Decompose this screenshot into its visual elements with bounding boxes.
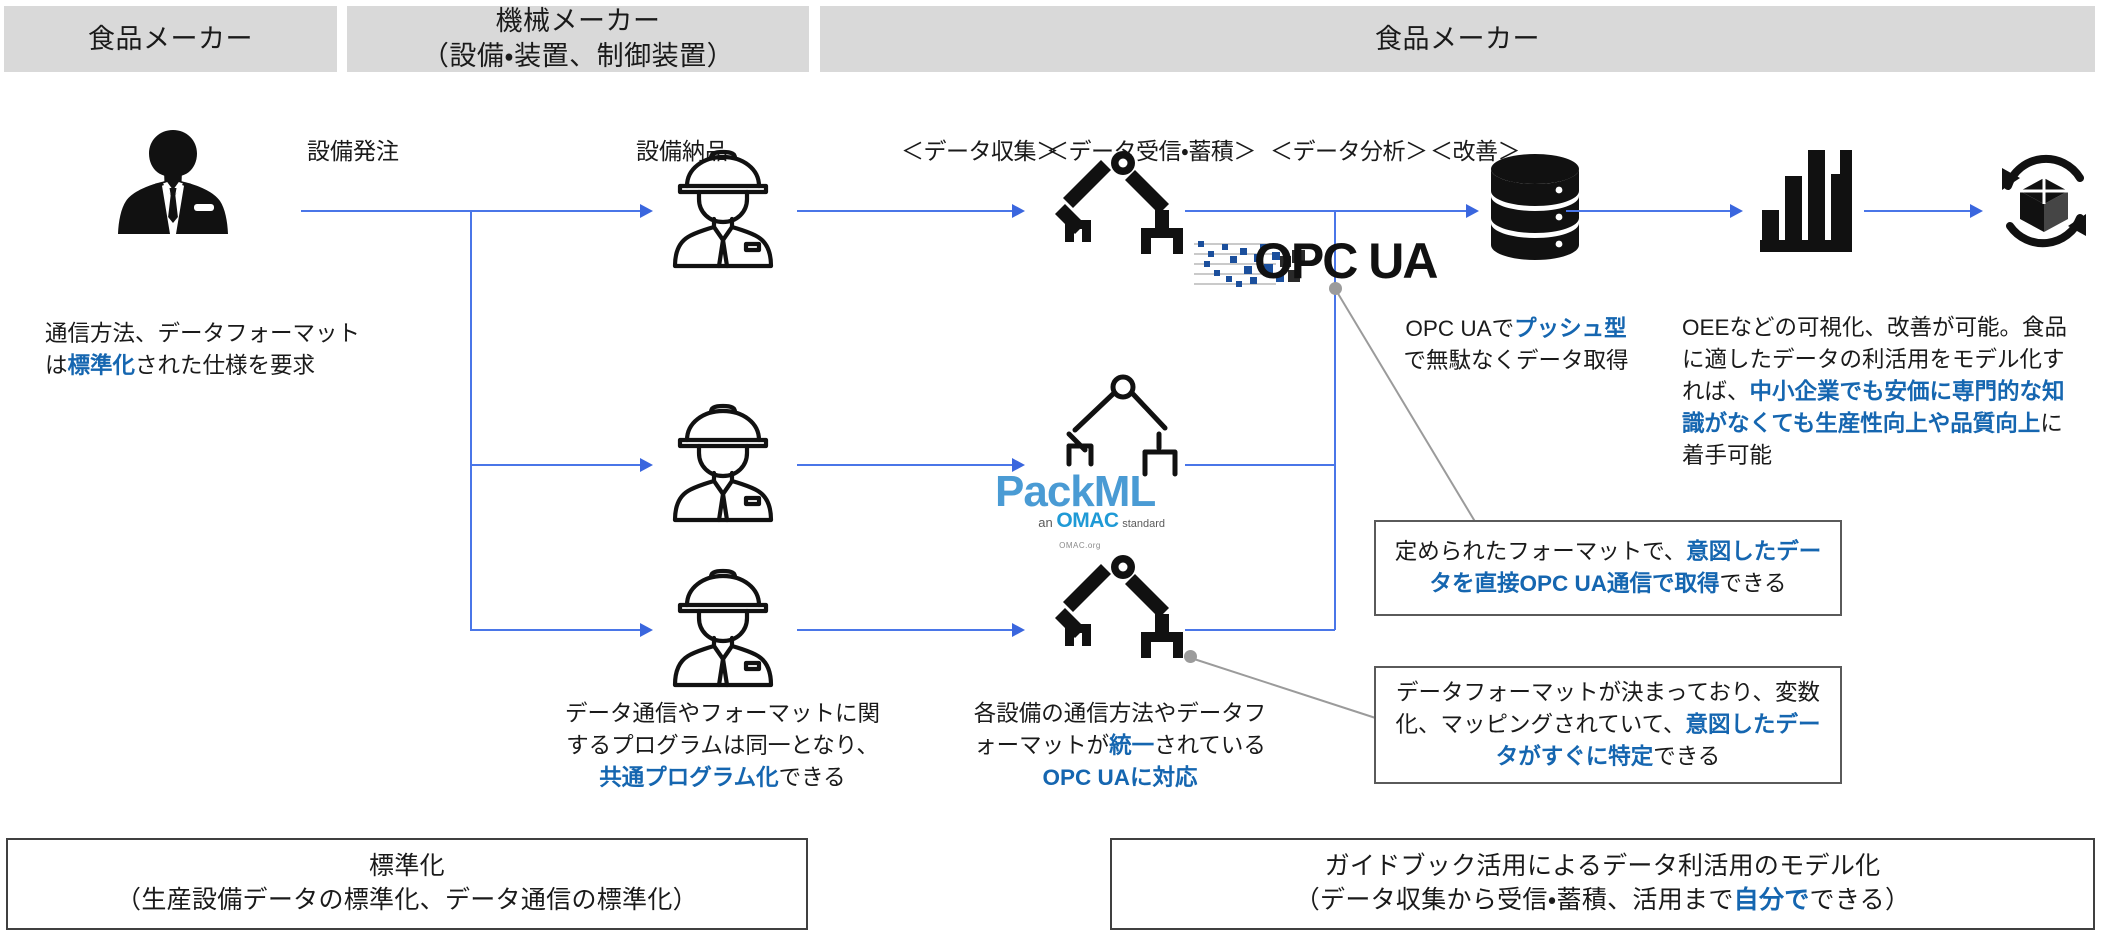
engineer-helmet-icon xyxy=(662,402,784,524)
analysis-caption: OEEなどの可視化、改善が可能。食品に適したデータの利活用をモデル化すれば、中小… xyxy=(1682,312,2084,472)
arrowhead-engineer-1 xyxy=(640,204,653,218)
person-suit-icon xyxy=(110,122,236,242)
footer-2-line-2-highlight: 自分で xyxy=(1734,886,1810,914)
engineer-caption: データ通信やフォーマットに関するプログラムは同一となり、共通プログラム化できる xyxy=(555,698,890,794)
connector-trunk-to-engineer-1 xyxy=(470,210,640,212)
connector-robot3-to-bus xyxy=(1185,629,1335,631)
footer-1-line-1: 標準化 xyxy=(116,850,698,884)
packml-an-text: an xyxy=(1038,515,1052,530)
arrowhead-engineer-2 xyxy=(640,458,653,472)
database-caption-post: で無駄なくデータ取得 xyxy=(1403,348,1628,373)
arrowhead-robot-1 xyxy=(1012,204,1025,218)
left-caption-highlight: 標準化 xyxy=(68,353,136,378)
header-food-maker-left: 食品メーカー xyxy=(4,6,337,72)
connector-database-to-chart xyxy=(1566,210,1730,212)
opcua-logo-text: OPC UA xyxy=(1254,236,1436,286)
footer-2-line-2-post: できる） xyxy=(1810,886,1911,914)
connector-robot2-to-bus xyxy=(1185,464,1335,466)
arrowhead-robot-3 xyxy=(1012,623,1025,637)
header-line: （設備・装置、制御装置） xyxy=(422,39,734,74)
engineer-caption-post: できる xyxy=(779,765,846,790)
packml-url-text: OMAC.org xyxy=(995,541,1165,550)
arrowhead-engineer-3 xyxy=(640,623,653,637)
engineer-helmet-icon xyxy=(662,567,784,689)
connector-engineer3-to-robot3 xyxy=(797,629,1012,631)
footer-2-line-1: ガイドブック活用によるデータ利活用のモデル化 xyxy=(1295,850,1911,884)
robot-caption-mid: されている xyxy=(1154,733,1266,758)
arrowhead-improve xyxy=(1970,204,1983,218)
robot-caption-highlight-1: 統一 xyxy=(1109,733,1154,758)
callout-2-post: できる xyxy=(1653,744,1720,769)
connector-trunk-to-engineer-3 xyxy=(470,629,640,631)
engineer-caption-highlight: 共通プログラム化 xyxy=(599,765,778,790)
recycle-box-icon xyxy=(1990,148,2098,256)
connector-engineer1-to-robot1 xyxy=(797,210,1012,212)
footer-2-line-2: （データ収集から受信・蓄積、活用まで自分でできる） xyxy=(1295,884,1911,918)
left-caption-post: された仕様を要求 xyxy=(135,353,315,378)
flow-label-order: 設備発注 xyxy=(307,132,399,166)
robot-caption: 各設備の通信方法やデータフォーマットが統一されているOPC UAに対応 xyxy=(965,698,1275,794)
bar-chart-icon xyxy=(1758,148,1858,256)
robot-caption-highlight-2: OPC UAに対応 xyxy=(1042,765,1197,790)
connector-robot1-to-bus xyxy=(1185,210,1335,212)
engineer-helmet-icon xyxy=(662,148,784,270)
arrowhead-database xyxy=(1466,204,1479,218)
callout-box-2: データフォーマットが決まっており、変数化、マッピングされていて、意図したデータが… xyxy=(1374,666,1842,784)
callout-box-1: 定められたフォーマットで、意図したデータを直接OPC UA通信で取得できる xyxy=(1374,520,1842,616)
header-line: 食品メーカー xyxy=(1375,22,1540,57)
header-line: 食品メーカー xyxy=(88,22,253,57)
header-machine-maker: 機械メーカー （設備・装置、制御装置） xyxy=(347,6,809,72)
database-caption-pre: OPC UAで xyxy=(1405,316,1514,341)
database-caption-highlight: プッシュ型 xyxy=(1514,316,1627,341)
packml-logo-text: PackML xyxy=(995,470,1165,514)
engineer-caption-pre: データ通信やフォーマットに関するプログラムは同一となり、 xyxy=(565,701,880,758)
callout-1-post: できる xyxy=(1719,571,1786,596)
footer-1-line-2-pre: （生産設備データの標準化、データ通信の標準化） xyxy=(116,886,698,914)
stage-label-data-collection: ＜データ収集＞ xyxy=(901,132,1059,166)
footer-box-guidebook: ガイドブック活用によるデータ利活用のモデル化 （データ収集から受信・蓄積、活用ま… xyxy=(1110,838,2095,930)
robot-arm-icon xyxy=(1055,552,1185,667)
connector-trunk-vertical xyxy=(470,210,472,630)
omac-logo-text: OMAC xyxy=(1056,509,1118,532)
footer-box-standardization: 標準化 （生産設備データの標準化、データ通信の標準化） xyxy=(6,838,808,930)
connector-trunk-to-engineer-2 xyxy=(470,464,640,466)
connector-bus-to-database xyxy=(1334,210,1466,212)
opcua-logo: OPC UA xyxy=(1192,228,1452,300)
connector-engineer2-to-robot2 xyxy=(797,464,1012,466)
packml-standard-text: standard xyxy=(1122,518,1165,530)
packml-logo: PackML an OMAC standard OMAC.org xyxy=(995,470,1165,550)
left-caption: 通信方法、データフォーマットは標準化された仕様を要求 xyxy=(45,318,360,382)
header-food-maker-right: 食品メーカー xyxy=(820,6,2095,72)
arrowhead-chart xyxy=(1730,204,1743,218)
callout-1-pre: 定められたフォーマットで、 xyxy=(1395,539,1687,564)
footer-2-line-2-pre: （データ収集から受信・蓄積、活用まで xyxy=(1295,886,1734,914)
robot-arm-icon xyxy=(1055,148,1185,263)
connector-chart-to-improve xyxy=(1864,210,1970,212)
database-caption: OPC UAでプッシュ型 で無駄なくデータ取得 xyxy=(1366,313,1666,377)
stage-label-data-analysis: ＜データ分析＞ xyxy=(1270,132,1428,166)
header-line: 機械メーカー xyxy=(422,4,734,39)
footer-1-line-2: （生産設備データの標準化、データ通信の標準化） xyxy=(116,884,698,918)
